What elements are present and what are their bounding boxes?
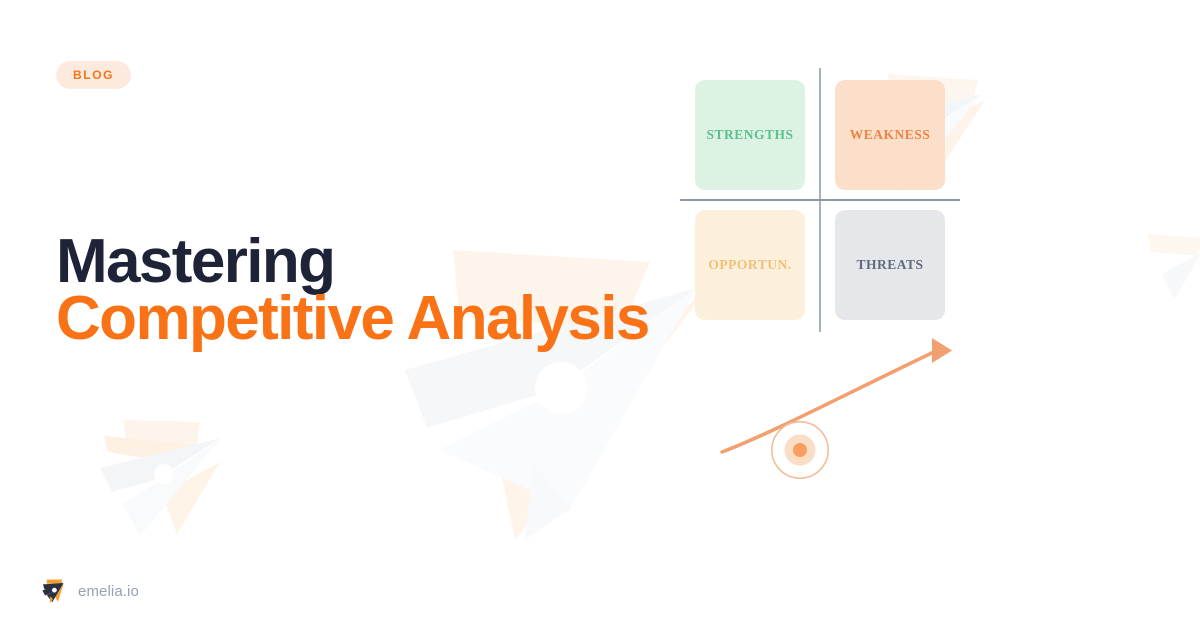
- brand-wordmark: emelia.io: [78, 583, 139, 600]
- growth-arrow-icon: [700, 330, 970, 490]
- page-title-line-2: Competitive Analysis: [56, 290, 716, 347]
- brand-logo: emelia.io: [41, 578, 139, 605]
- page-title: Mastering Competitive Analysis: [56, 233, 716, 347]
- swot-quadrant-opportunity: OPPORTUN.: [695, 210, 805, 320]
- blog-badge-label: BLOG: [73, 69, 114, 81]
- swot-horizontal-axis: [680, 199, 960, 201]
- background-watermark-plane-far-right: [1140, 230, 1200, 320]
- page-title-line-1: Mastering: [56, 233, 716, 290]
- swot-quadrant-weakness-label: WEAKNESS: [850, 127, 931, 143]
- swot-quadrant-strengths: STRENGTHS: [695, 80, 805, 190]
- swot-quadrant-threats-label: THREATS: [856, 257, 923, 273]
- swot-quadrant-opportunity-label: OPPORTUN.: [708, 257, 791, 273]
- blog-badge: BLOG: [56, 61, 131, 89]
- swot-matrix: STRENGTHS WEAKNESS OPPORTUN. THREATS: [680, 68, 960, 332]
- og-card-canvas: BLOG Mastering Competitive Analysis STRE…: [0, 0, 1200, 630]
- background-watermark-plane-left: [80, 400, 370, 590]
- swot-quadrant-weakness: WEAKNESS: [835, 80, 945, 190]
- swot-quadrant-threats: THREATS: [835, 210, 945, 320]
- swot-quadrant-strengths-label: STRENGTHS: [706, 127, 793, 143]
- bullseye-target-icon: [770, 420, 830, 480]
- emelia-paper-plane-logo-icon: [41, 578, 68, 605]
